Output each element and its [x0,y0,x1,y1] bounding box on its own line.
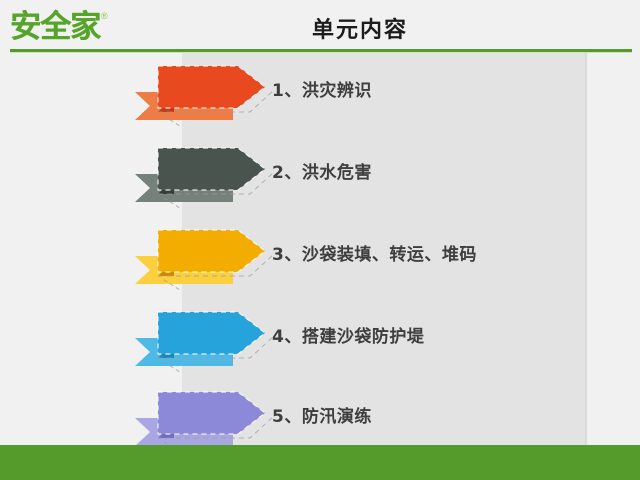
list-item-label: 3、沙袋装填、转运、堆码 [272,240,477,265]
list-item[interactable]: 4、搭建沙袋防护堤 [0,306,640,374]
brand-logo: 安全家® [10,6,146,48]
slide-header: 安全家® 单元内容 [0,0,640,52]
banner-arrow-body-1 [158,66,265,108]
list-item[interactable]: 2、洪水危害 [0,142,640,210]
banner-arrow-body-3 [158,230,265,272]
banner-arrow-body-5 [158,392,265,434]
arrow-banner-4 [128,306,278,374]
list-item[interactable]: 5、防汛演练 [0,386,640,454]
list-item-label: 4、搭建沙袋防护堤 [272,322,424,347]
banner-arrow-body-4 [158,312,265,354]
arrow-banner-3 [128,224,278,292]
slide-canvas: 安全家® 单元内容 1、洪灾辨识 [0,0,640,480]
page-title: 单元内容 [180,12,540,44]
banner-arrow-body-2 [158,148,265,190]
footer-bar [0,445,640,480]
registered-trademark-icon: ® [101,11,108,21]
arrow-banner-2 [128,142,278,210]
brand-logo-text: 安全家 [10,12,100,43]
list-item-label: 2、洪水危害 [272,158,372,183]
list-item-label: 1、洪灾辨识 [272,76,372,101]
list-item-label: 5、防汛演练 [272,402,372,427]
arrow-banner-1 [128,60,278,128]
list-item[interactable]: 3、沙袋装填、转运、堆码 [0,224,640,292]
list-item[interactable]: 1、洪灾辨识 [0,60,640,128]
arrow-banner-5 [128,386,278,454]
